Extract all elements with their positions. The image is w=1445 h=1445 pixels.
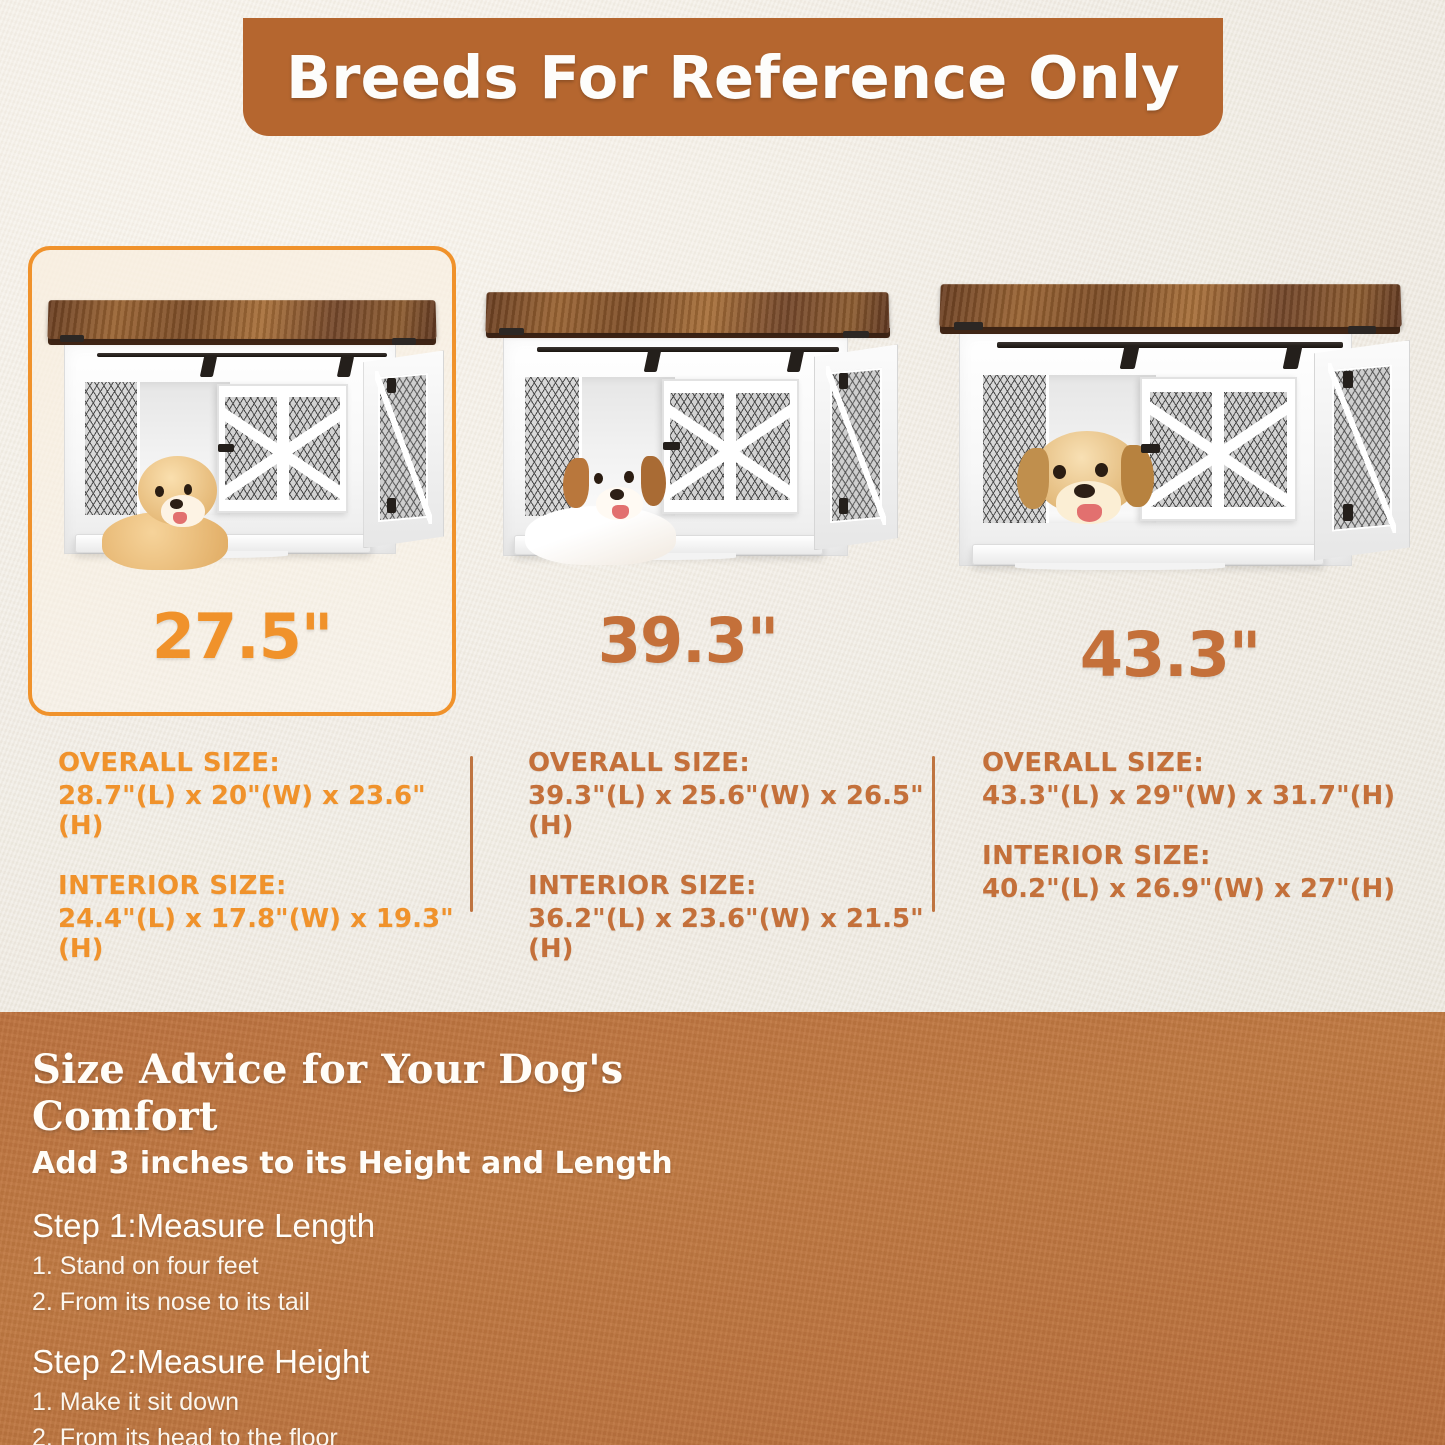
advice-step-1: Step 1:Measure Length 1. Stand on four f… <box>32 1207 822 1317</box>
spec-column-2: OVERALL SIZE: 43.3"(L) x 29"(W) x 31.7"(… <box>982 748 1402 904</box>
crate-sliding-barn-door[interactable] <box>662 379 799 513</box>
crate-illustration-1 <box>478 292 898 604</box>
crate-sliding-barn-door[interactable] <box>1140 377 1297 521</box>
crate-illustration-0 <box>40 300 444 600</box>
crate-side-mesh-panel <box>378 373 428 522</box>
crate-side-hinge-top-icon <box>387 378 396 393</box>
crate-size-label-0: 27.5" <box>40 600 444 673</box>
barn-door-center-stile <box>277 386 289 511</box>
dog-eye-right <box>184 484 192 495</box>
step-1-title: Step 1:Measure Length <box>32 1207 822 1245</box>
dog-beagle <box>554 442 672 561</box>
interior-size-title: INTERIOR SIZE: <box>982 841 1402 871</box>
dog-tongue <box>1077 504 1101 522</box>
overall-size-value: 28.7"(L) x 20"(W) x 23.6"(H) <box>58 781 458 841</box>
crate-side-mesh-panel <box>1332 365 1392 532</box>
crate-size-label-1: 39.3" <box>478 604 898 677</box>
crate-side-hinge-bottom-icon <box>387 498 396 513</box>
advice-heading: Size Advice for Your Dog's Comfort <box>32 1046 822 1140</box>
crate-door-latch-icon[interactable] <box>218 444 234 452</box>
crate-side-mesh-panel <box>830 368 882 523</box>
spec-column-1: OVERALL SIZE: 39.3"(L) x 25.6"(W) x 26.5… <box>528 748 948 964</box>
barn-door-bottom-rail <box>1142 507 1295 520</box>
dog-eye-right <box>624 471 633 483</box>
crate-bracket-left-icon <box>499 328 524 335</box>
barn-door-center-stile <box>1212 379 1224 519</box>
crate-sliding-barn-door[interactable] <box>217 384 349 513</box>
dog-tongue <box>173 512 187 524</box>
crate-bracket-left-icon <box>954 322 983 330</box>
crate-option-2[interactable]: 43.3" <box>930 284 1410 691</box>
crate-side-door[interactable] <box>1314 340 1410 560</box>
dog-eye-left <box>155 486 163 497</box>
crate-side-hinge-top-icon <box>839 373 848 389</box>
interior-size-value: 40.2"(L) x 26.9"(W) x 27"(H) <box>982 874 1402 904</box>
advice-text-block: Size Advice for Your Dog's Comfort Add 3… <box>32 1046 822 1445</box>
dog-ear-left <box>1017 448 1050 510</box>
dog-toy-poodle <box>121 456 226 564</box>
advice-step-2: Step 2:Measure Height 1. Make it sit dow… <box>32 1343 822 1445</box>
step-1-item-2: 2. From its nose to its tail <box>32 1288 822 1317</box>
size-advice-panel: Size Advice for Your Dog's Comfort Add 3… <box>0 1012 1445 1445</box>
overall-size-title: OVERALL SIZE: <box>528 748 948 778</box>
crate-option-1[interactable]: 39.3" <box>478 292 898 677</box>
specifications-row: OVERALL SIZE: 28.7"(L) x 20"(W) x 23.6"(… <box>0 748 1445 948</box>
product-size-comparison-section: Breeds For Reference Only <box>0 0 1445 1012</box>
dog-ear-right <box>1121 445 1154 507</box>
crate-bracket-right-icon <box>392 338 416 345</box>
crate-size-label-2: 43.3" <box>930 618 1410 691</box>
crate-option-0[interactable]: 27.5" <box>40 300 444 673</box>
barn-door-top-rail <box>664 381 797 393</box>
dog-ear-right <box>641 456 667 506</box>
spec-divider-0 <box>470 756 473 912</box>
overall-size-value: 39.3"(L) x 25.6"(W) x 26.5"(H) <box>528 781 948 841</box>
dog-nose <box>170 499 183 509</box>
dog-tongue <box>612 505 628 519</box>
barn-door-center-stile <box>724 381 736 511</box>
crate-side-hinge-bottom-icon <box>839 498 848 514</box>
crate-illustration-2 <box>930 284 1410 618</box>
overall-size-title: OVERALL SIZE: <box>982 748 1402 778</box>
overall-size-title: OVERALL SIZE: <box>58 748 458 778</box>
crate-wood-top-icon <box>48 300 437 339</box>
crate-bracket-right-icon <box>1348 326 1377 334</box>
spec-divider-1 <box>932 756 935 912</box>
step-2-item-1: 1. Make it sit down <box>32 1388 822 1417</box>
advice-subheading: Add 3 inches to its Height and Length <box>32 1146 822 1181</box>
reference-banner: Breeds For Reference Only <box>243 18 1223 136</box>
crate-door-latch-icon[interactable] <box>663 442 680 450</box>
barn-door-top-rail <box>219 386 347 397</box>
dog-eye-left <box>1053 465 1066 479</box>
crate-door-latch-icon[interactable] <box>1141 444 1160 453</box>
barn-door-bottom-rail <box>219 500 347 511</box>
step-2-item-2: 2. From its head to the floor <box>32 1424 822 1445</box>
interior-size-title: INTERIOR SIZE: <box>528 871 948 901</box>
crate-wood-top-icon <box>486 292 890 332</box>
dog-ear-left <box>563 458 589 508</box>
crate-side-hinge-top-icon <box>1343 371 1354 388</box>
barn-door-top-rail <box>1142 379 1295 392</box>
overall-size-value: 43.3"(L) x 29"(W) x 31.7"(H) <box>982 781 1402 811</box>
interior-size-value: 24.4"(L) x 17.8"(W) x 19.3"(H) <box>58 904 458 964</box>
step-2-title: Step 2:Measure Height <box>32 1343 822 1381</box>
crate-side-door[interactable] <box>814 344 898 550</box>
crate-bracket-left-icon <box>60 335 84 342</box>
crate-bracket-right-icon <box>843 331 868 338</box>
crate-side-hinge-bottom-icon <box>1343 504 1354 521</box>
barn-door-bottom-rail <box>664 500 797 512</box>
banner-title: Breeds For Reference Only <box>286 43 1180 112</box>
spec-column-0: OVERALL SIZE: 28.7"(L) x 20"(W) x 23.6"(… <box>58 748 458 964</box>
crate-side-door[interactable] <box>363 350 444 548</box>
interior-size-title: INTERIOR SIZE: <box>58 871 458 901</box>
interior-size-value: 36.2"(L) x 23.6"(W) x 21.5"(H) <box>528 904 948 964</box>
crate-wood-top-icon <box>939 284 1401 327</box>
step-1-item-1: 1. Stand on four feet <box>32 1252 822 1281</box>
dog-golden-retriever <box>997 431 1160 571</box>
dog-nose <box>610 489 624 500</box>
